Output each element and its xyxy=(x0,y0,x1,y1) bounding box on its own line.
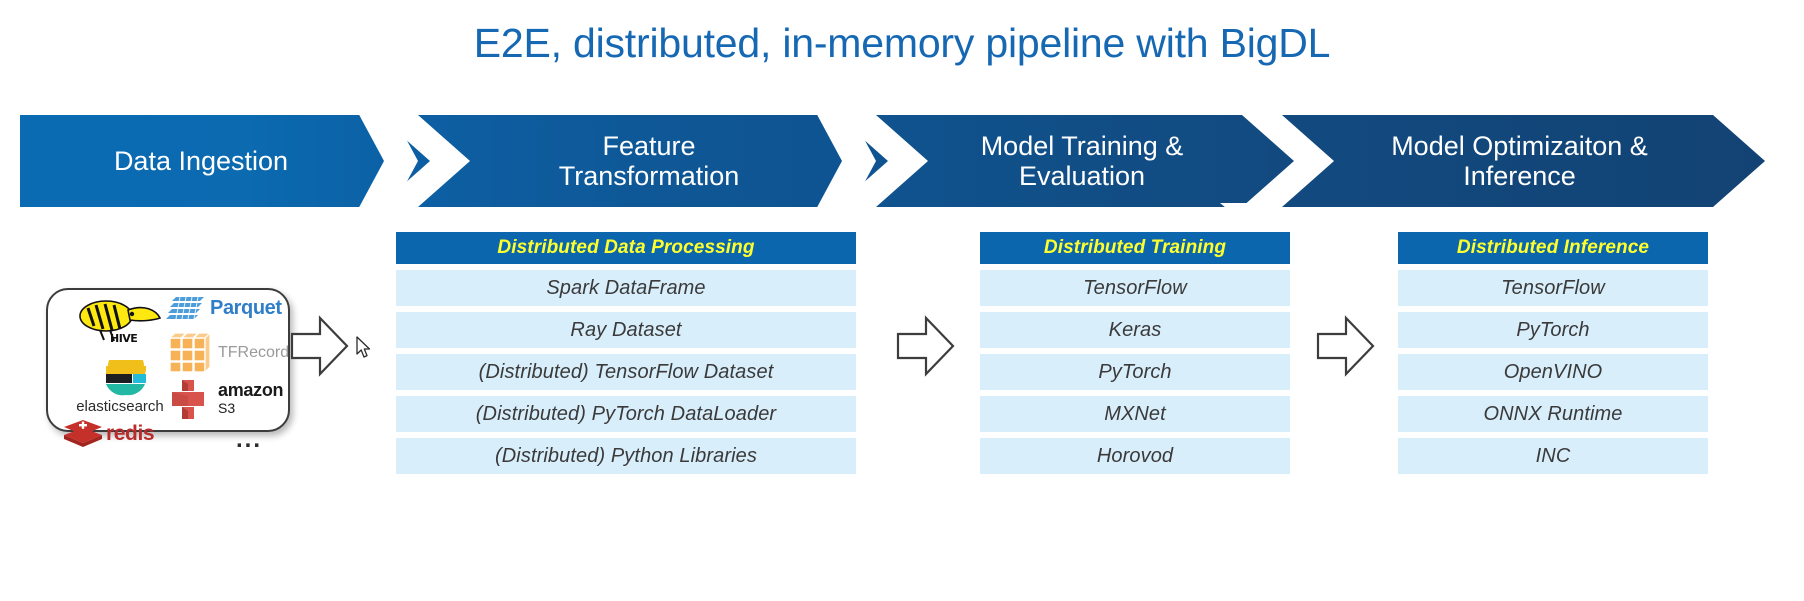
page-title: E2E, distributed, in-memory pipeline wit… xyxy=(0,20,1804,67)
tfrecord-label: TFRecord xyxy=(218,344,289,362)
mouse-cursor-icon xyxy=(356,336,372,365)
stage-label-line1: Model Training & xyxy=(981,131,1184,161)
stack-row[interactable]: Horovod xyxy=(980,438,1290,474)
pipeline-stage-model-optimization[interactable]: Model Optimizaiton & Inference xyxy=(1282,115,1765,207)
stack-row[interactable]: Keras xyxy=(980,312,1290,348)
stack-row[interactable]: ONNX Runtime xyxy=(1398,396,1708,432)
stack-row[interactable]: TensorFlow xyxy=(980,270,1290,306)
stack-distributed-data-processing: Distributed Data Processing Spark DataFr… xyxy=(396,232,856,474)
stack-row[interactable]: PyTorch xyxy=(1398,312,1708,348)
stack-distributed-training: Distributed Training TensorFlow Keras Py… xyxy=(980,232,1290,474)
data-source-card: HIVE elasticsearch xyxy=(46,288,290,432)
stage-label-line2: Inference xyxy=(1391,161,1648,191)
pipeline-stage-data-ingestion[interactable]: Data Ingestion xyxy=(20,115,430,207)
redis-icon: redis xyxy=(62,416,184,456)
elasticsearch-icon: elasticsearch xyxy=(64,360,174,424)
stack-row[interactable]: Spark DataFrame xyxy=(396,270,856,306)
arrow-training-to-inference-icon xyxy=(1316,312,1376,380)
redis-label: redis xyxy=(106,422,154,446)
pipeline-stage-model-training[interactable]: Model Training & Evaluation xyxy=(876,115,1294,207)
hive-icon: HIVE xyxy=(70,296,164,354)
amazon-s3-icon: amazon S3 xyxy=(166,378,292,424)
elasticsearch-label: elasticsearch xyxy=(64,398,176,415)
s3-label: S3 xyxy=(218,400,235,416)
stack-row[interactable]: (Distributed) PyTorch DataLoader xyxy=(396,396,856,432)
stack-header: Distributed Inference xyxy=(1398,232,1708,264)
stack-row[interactable]: PyTorch xyxy=(980,354,1290,390)
arrow-sources-to-processing-icon xyxy=(290,312,350,380)
amazon-label: amazon xyxy=(218,380,283,401)
pipeline-stage-feature-transformation[interactable]: Feature Transformation xyxy=(418,115,888,207)
parquet-label: Parquet xyxy=(210,297,282,320)
pipeline-banner: Data Ingestion Feature Transformation Mo… xyxy=(20,115,1765,207)
stack-row[interactable]: MXNet xyxy=(980,396,1290,432)
stack-header: Distributed Data Processing xyxy=(396,232,856,264)
stack-row[interactable]: TensorFlow xyxy=(1398,270,1708,306)
stage-label-line1: Feature xyxy=(559,131,740,161)
stage-label-line1: Model Optimizaiton & xyxy=(1391,131,1648,161)
stage-label-line1: Data Ingestion xyxy=(114,146,288,176)
stack-distributed-inference: Distributed Inference TensorFlow PyTorch… xyxy=(1398,232,1708,474)
stack-header: Distributed Training xyxy=(980,232,1290,264)
stage-label-line2: Evaluation xyxy=(981,161,1184,191)
stack-row[interactable]: OpenVINO xyxy=(1398,354,1708,390)
arrow-processing-to-training-icon xyxy=(896,312,956,380)
stage-label-line2: Transformation xyxy=(559,161,740,191)
hive-label: HIVE xyxy=(110,332,137,345)
stack-row[interactable]: (Distributed) TensorFlow Dataset xyxy=(396,354,856,390)
stack-row[interactable]: INC xyxy=(1398,438,1708,474)
parquet-icon: Parquet xyxy=(166,294,284,328)
stack-row[interactable]: (Distributed) Python Libraries xyxy=(396,438,856,474)
more-sources-label: ... xyxy=(236,426,262,454)
stack-row[interactable]: Ray Dataset xyxy=(396,312,856,348)
tfrecord-icon: TFRecord xyxy=(166,332,290,376)
